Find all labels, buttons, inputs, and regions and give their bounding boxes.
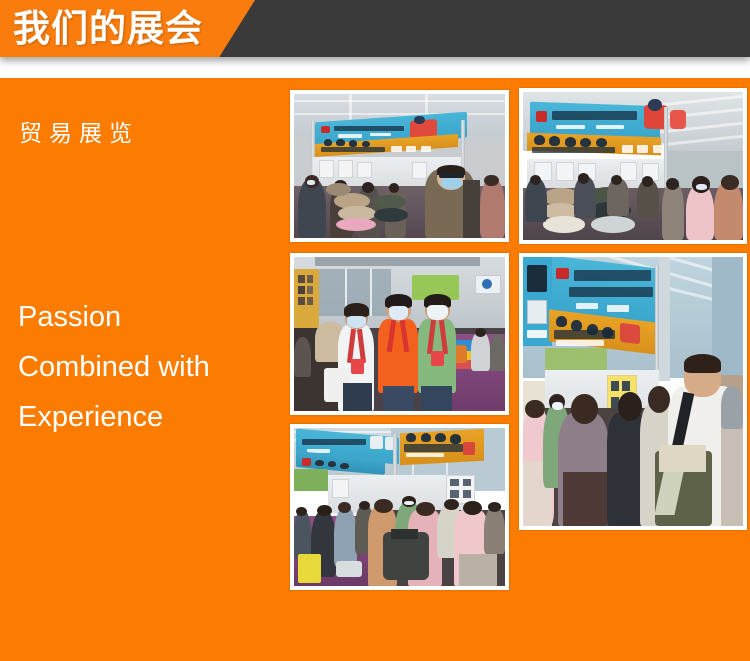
- page-body: 贸易展览 Passion Combined with Experience: [0, 78, 750, 661]
- tagline-line-3: Experience: [18, 392, 280, 442]
- page-title: 我们的展会: [13, 6, 203, 52]
- tagline-line-2: Combined with: [18, 342, 280, 392]
- gallery-photo-aisle-crowd[interactable]: [290, 424, 509, 590]
- gallery-photo-team-portrait[interactable]: [290, 253, 509, 415]
- gallery-photo-booth-crowd-tall[interactable]: [519, 253, 747, 530]
- left-text-column: 贸易展览 Passion Combined with Experience: [0, 78, 288, 661]
- gallery-photo-trade-show-booth-wide[interactable]: [290, 90, 509, 242]
- chinese-subtitle: 贸易展览: [19, 118, 139, 148]
- gallery-photo-trade-show-booth-banner[interactable]: [519, 88, 747, 244]
- english-tagline: Passion Combined with Experience: [18, 292, 280, 442]
- page-header: 我们的展会: [0, 0, 750, 78]
- tagline-line-1: Passion: [18, 292, 280, 342]
- photo-gallery: [288, 78, 750, 661]
